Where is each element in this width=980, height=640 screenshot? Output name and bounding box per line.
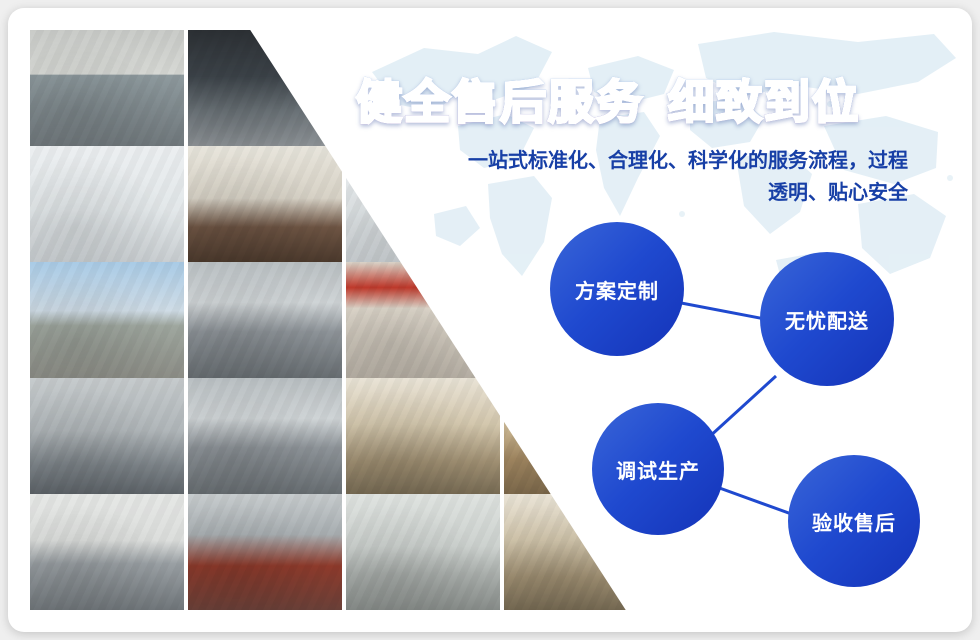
flow-node-commissioning-production[interactable]: 调试生产 [592, 403, 724, 535]
subtitle-line-1: 一站式标准化、合理化、科学化的服务流程，过程 [368, 144, 908, 176]
headline-part2: 细致到位 [668, 75, 860, 129]
collage-photo-staff-group-photo-hongji [30, 494, 184, 610]
flow-node-plan-customization[interactable]: 方案定制 [550, 222, 684, 356]
connector-1-2 [676, 302, 770, 320]
collage-photo-white-helmet-equipment-check [188, 378, 342, 494]
flow-node-worry-free-delivery[interactable]: 无忧配送 [760, 252, 894, 386]
collage-photo-lobby-handshake-hongji [30, 146, 184, 262]
flow-node-acceptance-aftersales[interactable]: 验收售后 [788, 455, 920, 587]
collage-photo-conference-room-meeting [188, 146, 342, 262]
banner-stage: 健全售后服务细致到位 一站式标准化、合理化、科学化的服务流程，过程 透明、贴心安… [0, 0, 980, 640]
collage-photo-workshop-red-helmet-tour [188, 262, 342, 378]
collage-photo-inspecting-pipe-machinery [30, 378, 184, 494]
page-title: 健全售后服务细致到位 [356, 66, 916, 128]
collage-photo-construction-site-visit [30, 262, 184, 378]
collage-photo-team-yellow-vests-doorway [188, 30, 342, 146]
collage-photo-delegation-building-entrance [346, 494, 500, 610]
collage-photo-workers-red-helmets-stairs [30, 30, 184, 146]
collage-photo-showroom-product-display [346, 378, 500, 494]
collage-photo-signing-ceremony-red-banner [346, 262, 500, 378]
headline-part1: 健全售后服务 [356, 75, 644, 129]
connector-2-3 [708, 376, 776, 438]
banner-card: 健全售后服务细致到位 一站式标准化、合理化、科学化的服务流程，过程 透明、贴心安… [8, 8, 972, 632]
collage-photo-crew-vests-mixer-equipment [188, 494, 342, 610]
page-subtitle: 一站式标准化、合理化、科学化的服务流程，过程 透明、贴心安全 [368, 144, 908, 208]
subtitle-line-2: 透明、贴心安全 [368, 176, 908, 208]
